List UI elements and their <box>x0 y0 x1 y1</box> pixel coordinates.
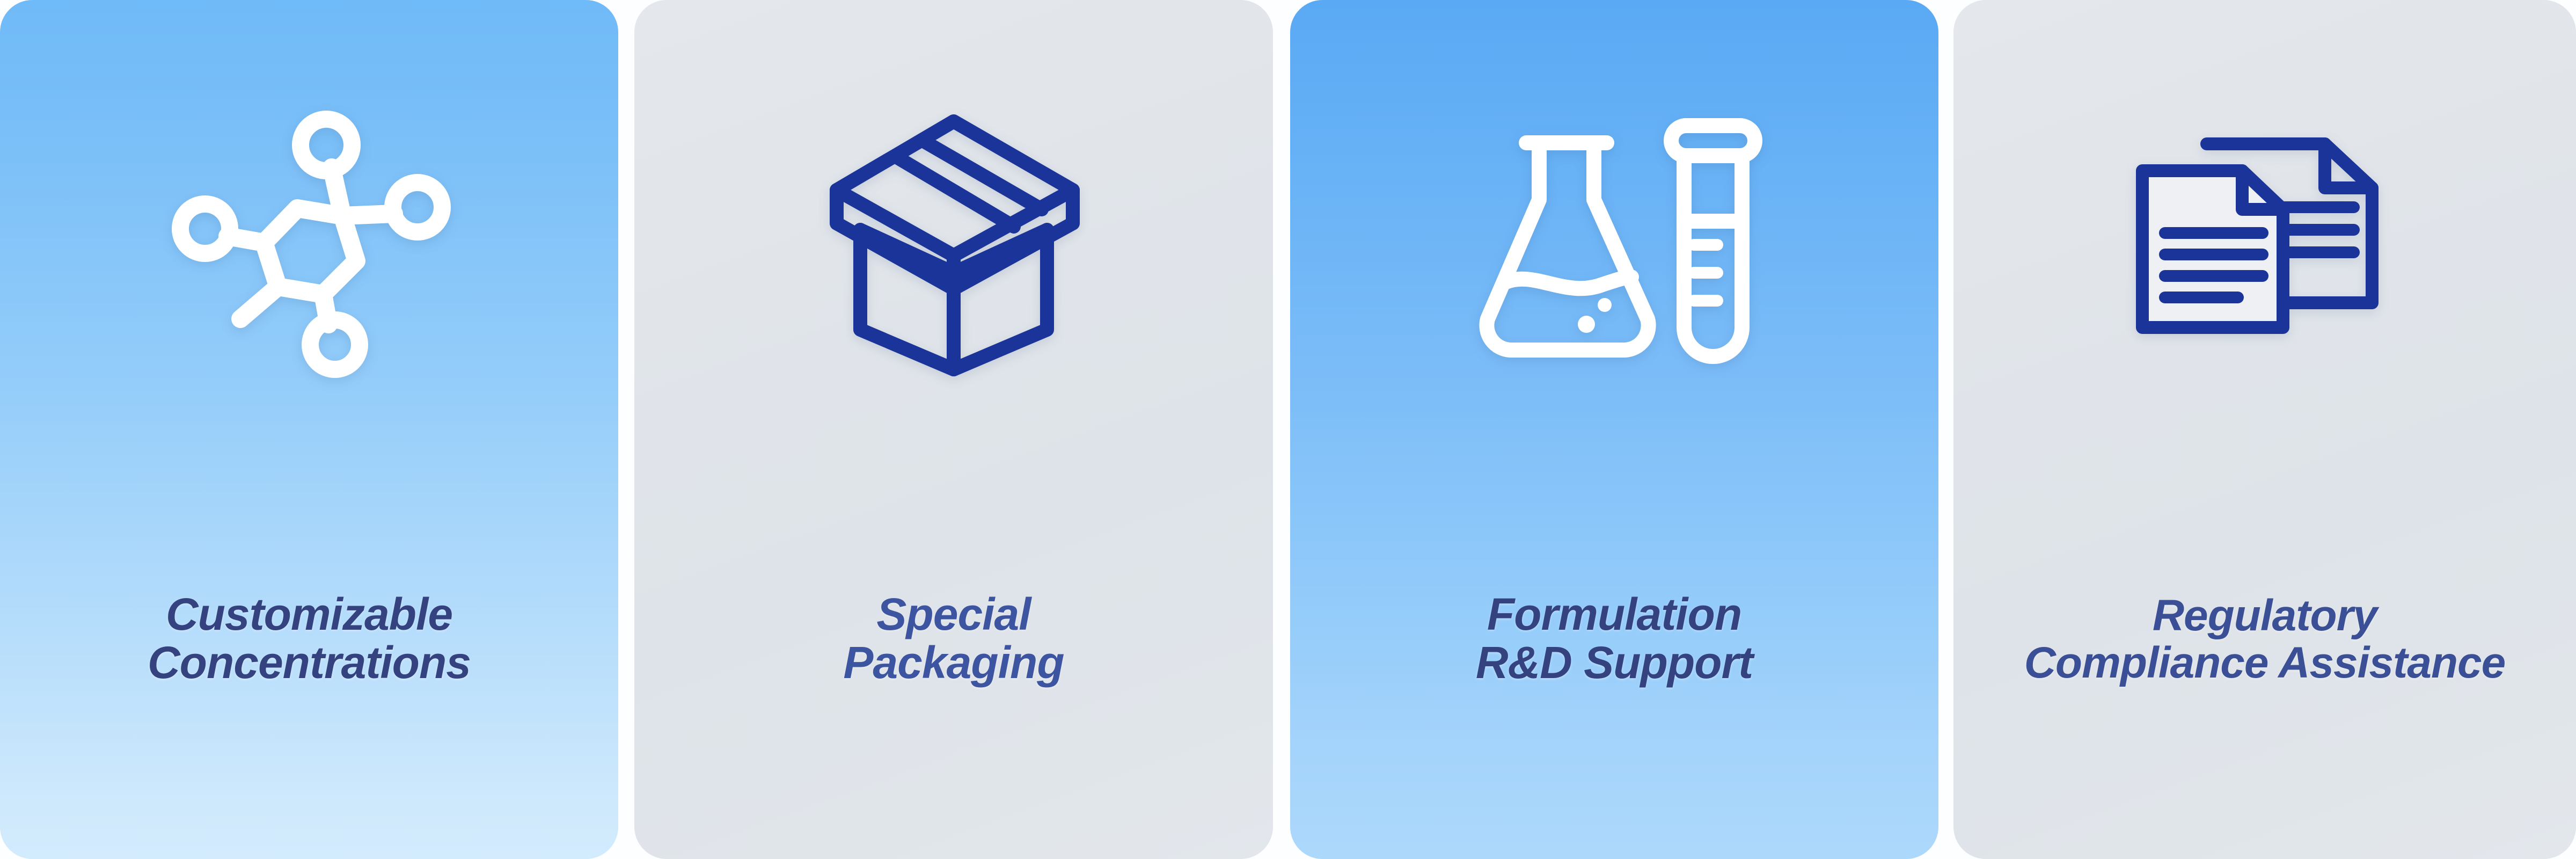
back-document-text-lines <box>2280 207 2354 252</box>
feature-card-customizable-concentrations[interactable]: Customizable Concentrations <box>0 0 618 859</box>
molecule-icon <box>159 102 459 381</box>
flask-test-tube-icon-wrap <box>1290 0 1938 483</box>
package-box-icon <box>803 102 1104 381</box>
feature-card-regulatory-compliance-assistance[interactable]: Regulatory Compliance Assistance <box>1953 0 2576 859</box>
feature-card-special-packaging[interactable]: Special Packaging <box>634 0 1273 859</box>
atom-circle-right <box>393 183 442 232</box>
documents-icon <box>2109 102 2420 381</box>
feature-card-label: Customizable Concentrations <box>0 590 618 687</box>
package-box-icon-wrap <box>634 0 1273 483</box>
feature-card-formulation-rd-support[interactable]: Formulation R&D Support <box>1290 0 1938 859</box>
erlenmeyer-flask-shape <box>1487 143 1648 350</box>
documents-icon-wrap <box>1953 0 2576 483</box>
flask-bubbles <box>1578 298 1612 333</box>
feature-card-label: Formulation R&D Support <box>1290 590 1938 687</box>
feature-card-label: Regulatory Compliance Assistance <box>1953 592 2576 687</box>
atom-circle-left <box>180 204 230 253</box>
atom-circle-top <box>301 119 352 171</box>
test-tube-graduations <box>1694 245 1717 301</box>
feature-cards-row: Customizable Concentrations <box>0 0 2576 859</box>
feature-card-label: Special Packaging <box>634 590 1273 687</box>
flask-test-tube-icon <box>1459 102 1770 381</box>
molecule-icon-wrap <box>0 0 618 483</box>
atom-circle-bottom <box>310 320 360 369</box>
